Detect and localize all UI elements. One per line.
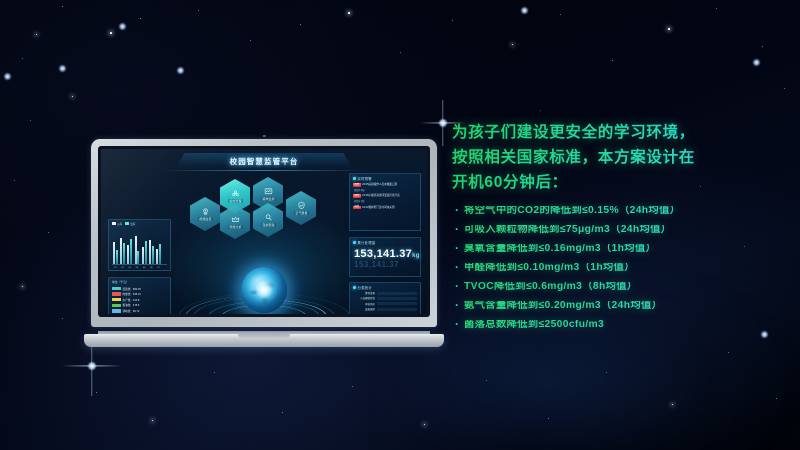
laptop-lid: 校园智慧监管平台 — [91, 139, 437, 327]
alert-item[interactable]: 预警 21:36小餐具清洗间温度异常升高 持续1.7秒 — [350, 193, 420, 204]
metric-value-row: 153,141.37kg — [350, 246, 420, 260]
metric-value: 153,141.37 — [354, 248, 412, 260]
alert-item[interactable]: 预警 19:42留样柜门长时间未关闭 — [350, 204, 420, 210]
search-icon — [264, 213, 273, 222]
x-tick: 01 — [113, 267, 118, 269]
dashboard: 校园智慧监管平台 — [101, 149, 427, 314]
spec-bullet-list: 将空气中的CO2的降低到≤0.15%（24h均值） 可吸入颗粒物降低到≤75μg… — [452, 206, 782, 330]
legend-table: 蔬菜类：890.25 肉禽类：645.10 水产类：312.8 粮油类：478.… — [109, 285, 170, 314]
legend-item: 出库 — [125, 222, 135, 226]
table-cell: 水产类：312.8 — [123, 298, 140, 302]
alert-text: 21:36小餐具清洗间温度异常升高 — [362, 194, 400, 197]
alert-item[interactable]: 预警 23:05后厨操作人员未佩戴口罩 持续1.2秒 — [350, 182, 420, 193]
laptop-device: 校园智慧监管平台 — [84, 139, 444, 347]
hex-smart-analysis[interactable]: 智能分析 — [220, 205, 250, 239]
hex-label: 智能分析 — [228, 225, 242, 229]
hexagon-menu: 视频监控 晨检管理 — [190, 177, 338, 239]
camera-icon — [201, 207, 210, 216]
scene-stage: 校园智慧监管平台 — [0, 0, 800, 450]
dashboard-title: 校园智慧监管平台 — [230, 156, 299, 167]
headline-line: 为孩子们建设更安全的学习环境， — [452, 120, 782, 145]
alert-badge: 预警 — [353, 183, 361, 187]
table-row: 肉禽类：645.10 — [112, 292, 168, 296]
metric-title-row: 累计处理量 — [350, 238, 420, 246]
alert-subtext: 持续1.2秒 — [353, 188, 417, 192]
table-cell: 肉禽类：645.10 — [123, 292, 141, 296]
panel-left-chart: 入库 出库 — [108, 219, 171, 271]
headline-line: 开机60分钟后： — [452, 170, 782, 195]
table-caption: 单位（千克） — [109, 278, 170, 285]
hbar-label: 人员健康检查 — [353, 296, 375, 300]
hbar-label: 设备巡检 — [353, 307, 375, 311]
crown-icon — [231, 215, 240, 224]
table-row: 蔬菜类：890.25 — [112, 287, 168, 291]
panel-left-table: 单位（千克） 蔬菜类：890.25 肉禽类：645.10 水产类：312.8 粮… — [108, 277, 171, 314]
chart-legend: 入库 出库 — [109, 220, 170, 227]
panel-metric: 累计处理量 153,141.37kg 153,141.37 — [349, 237, 421, 277]
alert-text: 19:42留样柜门长时间未关闭 — [362, 206, 394, 209]
laptop-base — [84, 334, 444, 347]
hex-label: 视频监控 — [198, 217, 212, 221]
hex-air-quality[interactable]: 空气质量 — [286, 191, 316, 225]
hbar-axis: 0 20 40 60 80 100 — [350, 313, 420, 314]
alerts-title-row: 实时预警 — [350, 174, 420, 182]
hbar-label: 环境消杀 — [353, 302, 375, 306]
bullet-dot-icon — [353, 177, 356, 180]
list-item: 菌落总数降低到≤2500cfu/m3 — [464, 320, 782, 330]
bar-chart — [113, 234, 161, 264]
hex-self-check[interactable]: 自助查验 — [253, 203, 283, 237]
dashboard-header: 校园智慧监管平台 — [174, 153, 354, 170]
globe-visual — [169, 261, 359, 314]
hex-label: 留样监测 — [261, 197, 275, 201]
x-tick: 04 — [135, 267, 140, 269]
list-item: 将空气中的CO2的降低到≤0.15%（24h均值） — [464, 206, 782, 216]
metric-title: 累计处理量 — [358, 240, 376, 245]
list-item: 臭氧含量降低到≤0.16mg/m3（1h均值） — [464, 244, 782, 254]
bullet-dot-icon — [353, 286, 356, 289]
hex-label: 自助查验 — [261, 223, 275, 227]
panel-bottom-chart: 分类统计 食材采购 人员健康检查 环境消杀 — [349, 282, 421, 314]
headline-line: 按照相关国家标准，本方案设计在 — [452, 145, 782, 170]
copy-block: 为孩子们建设更安全的学习环境， 按照相关国家标准，本方案设计在 开机60分钟后：… — [452, 120, 782, 339]
bottom-chart-title-row: 分类统计 — [350, 283, 420, 291]
table-row: 粮油类：478.5 — [112, 303, 168, 307]
laptop-screen: 校园智慧监管平台 — [101, 149, 427, 314]
alert-text: 23:05后厨操作人员未佩戴口罩 — [362, 183, 397, 186]
x-tick: 05 — [142, 267, 147, 269]
x-tick: 06 — [149, 267, 154, 269]
legend-label: 入库 — [117, 222, 122, 226]
alerts-title: 实时预警 — [358, 176, 372, 181]
hbar-label: 食材采购 — [353, 291, 375, 295]
table-row: 水产类：312.8 — [112, 298, 168, 302]
monitor-icon — [264, 187, 273, 196]
x-tick: 03 — [127, 267, 132, 269]
chart-x-labels: 01 02 03 04 05 06 07 — [113, 267, 161, 269]
table-cell: 粮油类：478.5 — [123, 303, 140, 307]
bullet-dot-icon — [353, 241, 356, 244]
laptop-bezel: 校园智慧监管平台 — [98, 146, 430, 317]
hex-video-monitor[interactable]: 视频监控 — [190, 197, 220, 231]
metric-reflection: 153,141.37 — [350, 260, 420, 269]
hex-label: 晨检管理 — [228, 199, 242, 203]
table-row: 调味类：96.72 — [112, 309, 168, 313]
globe-core-glow — [251, 277, 277, 303]
legend-item: 入库 — [112, 222, 122, 226]
header-divider — [160, 170, 369, 171]
headline: 为孩子们建设更安全的学习环境， 按照相关国家标准，本方案设计在 开机60分钟后： — [452, 120, 782, 195]
alert-badge: 预警 — [353, 194, 361, 198]
biohazard-icon — [231, 189, 240, 198]
chart-axis — [112, 264, 167, 265]
list-item: 可吸入颗粒物降低到≤75μg/m3（24h均值） — [464, 225, 782, 235]
x-tick: 07 — [156, 267, 161, 269]
x-tick: 02 — [120, 267, 125, 269]
shield-icon — [297, 201, 306, 210]
table-cell: 蔬菜类：890.25 — [123, 287, 141, 291]
hex-label: 空气质量 — [294, 211, 308, 215]
list-item: TVOC降低到≤0.6mg/m3（8h均值） — [464, 282, 782, 292]
list-item: 氨气含量降低到≤0.20mg/m3（24h均值） — [464, 301, 782, 311]
alert-badge: 预警 — [353, 206, 361, 210]
bottom-chart-title: 分类统计 — [358, 285, 372, 290]
list-item: 甲醛降低到≤0.10mg/m3（1h均值） — [464, 263, 782, 273]
metric-unit: kg — [412, 253, 420, 259]
alert-subtext: 持续1.7秒 — [353, 199, 417, 203]
legend-label: 出库 — [130, 222, 135, 226]
panel-alerts: 实时预警 预警 23:05后厨操作人员未佩戴口罩 持续1.2秒 — [349, 173, 421, 231]
table-cell: 调味类：96.72 — [123, 309, 140, 313]
webcam-icon — [263, 135, 266, 138]
